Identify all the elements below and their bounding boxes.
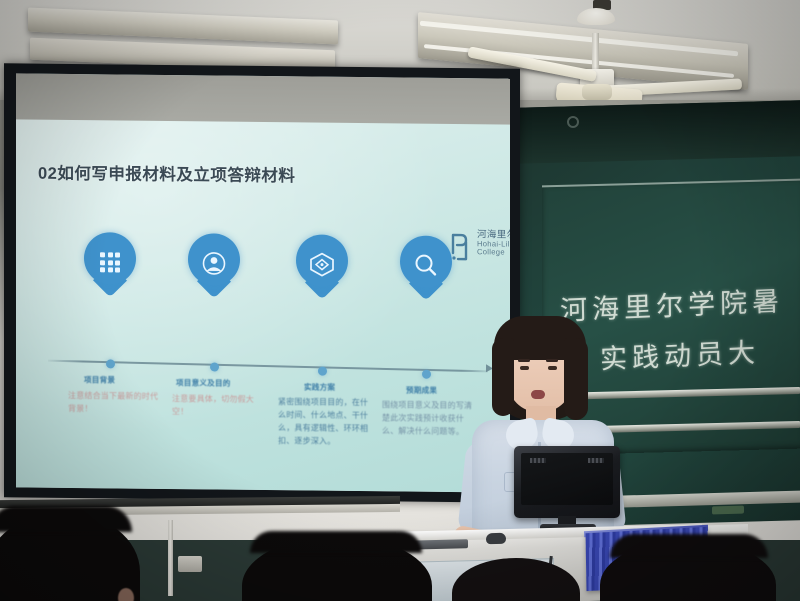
mouse (486, 533, 506, 544)
grid-icon (84, 236, 136, 289)
presenter-eye-right (548, 366, 557, 370)
column-4-heading: 预期成果 (406, 384, 437, 395)
timeline-dot-4 (422, 370, 431, 379)
column-2-heading: 项目意义及目的 (176, 377, 231, 389)
presenter-hair-left (492, 338, 514, 416)
column-3-body: 紧密围绕项目目的，在什么时间、什么地点、干什么，具有逻辑性、环环相扣、逐步深入。 (278, 396, 370, 449)
search-icon (400, 239, 452, 292)
blackboard-upper-shadow (516, 100, 800, 163)
wall-conduit-pipe (168, 520, 173, 596)
presenter-eyebrow-right (546, 359, 558, 362)
column-1-heading: 项目背景 (84, 374, 115, 385)
desktop-monitor (514, 446, 620, 530)
wall-outlet-plate (178, 556, 202, 572)
fan-downrod (592, 33, 599, 73)
projection-screen: 02如何写申报材料及立项答辩材料 河海里尔学院 Hohai-Lille Coll… (16, 73, 510, 492)
column-2-body: 注意要具体，切勿假大空！ (172, 393, 264, 420)
audience-head-1 (0, 512, 140, 601)
cube-icon (296, 238, 348, 291)
column-3-heading: 实践方案 (304, 381, 335, 392)
presenter-eye-left (520, 366, 529, 370)
column-1-body: 注意结合当下最新的时代背景！ (68, 390, 160, 417)
monitor-vent-right (588, 458, 604, 463)
slide-pin-3 (296, 234, 348, 297)
user-icon (188, 237, 240, 290)
presenter-hair-right (564, 338, 588, 420)
ceiling-fan-hub (582, 84, 612, 100)
presenter-mouth (531, 390, 545, 399)
monitor-bezel (514, 446, 620, 518)
audience-head-4 (600, 540, 776, 601)
presenter-eyebrow-left (518, 359, 530, 362)
slide-pin-1 (84, 232, 136, 295)
audience-ear (118, 588, 134, 601)
slide-pin-2 (188, 233, 240, 296)
timeline-dot-2 (210, 362, 219, 371)
audience-head-2 (242, 536, 432, 601)
classroom-photo: 河海里尔学院暑 实践动员大 02如何写申报材料及立项答辩材料 河海里尔学院 Ho… (0, 0, 800, 601)
fan-canopy (577, 8, 615, 25)
timeline-dot-3 (318, 367, 327, 376)
blackboard-knob-icon (567, 116, 579, 128)
blackboard-eraser (712, 506, 744, 515)
monitor-vent-left (530, 458, 546, 463)
slide-pin-4 (400, 235, 452, 298)
timeline-dot-1 (106, 359, 115, 368)
